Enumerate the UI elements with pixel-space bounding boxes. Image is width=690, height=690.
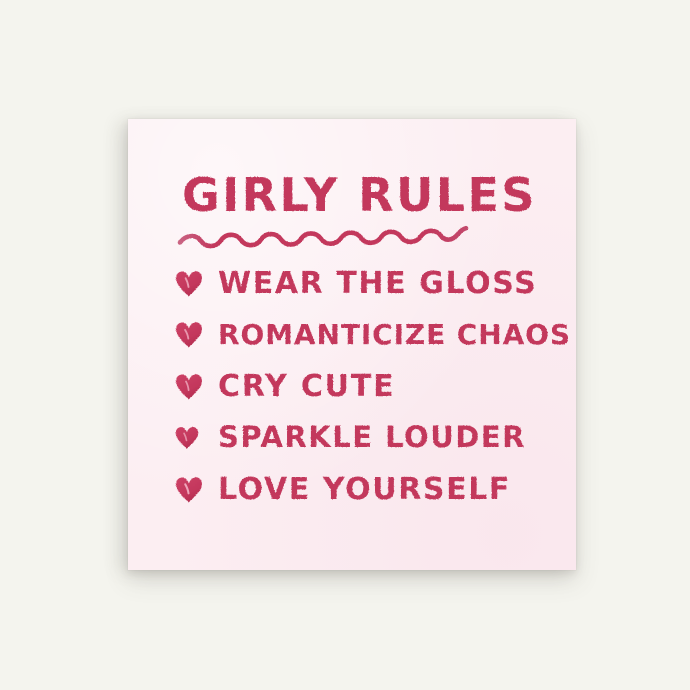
card-content: GIRLY RULES bbox=[128, 119, 576, 570]
rules-card: GIRLY RULES bbox=[128, 119, 576, 570]
list-item-label: SPARKLE LOUDER bbox=[218, 420, 526, 454]
list-item-text-area: CRY CUTE bbox=[218, 366, 570, 408]
rules-list: WEAR THE GLOSS ROMANTICIZE CHAOS bbox=[174, 258, 570, 516]
list-item-label: WEAR THE GLOSS bbox=[218, 266, 537, 301]
title-artwork: GIRLY RULES bbox=[182, 165, 522, 227]
heart-icon bbox=[174, 475, 204, 505]
heart-bullet bbox=[174, 470, 218, 510]
list-item-artwork: ROMANTICIZE CHAOS bbox=[218, 314, 570, 356]
list-item[interactable]: ROMANTICIZE CHAOS bbox=[174, 310, 570, 362]
list-item-text-area: ROMANTICIZE CHAOS bbox=[218, 314, 570, 356]
list-item[interactable]: CRY CUTE bbox=[174, 361, 570, 413]
list-item[interactable]: LOVE YOURSELF bbox=[174, 464, 570, 516]
wavy-underline-icon bbox=[178, 224, 468, 250]
title-text: GIRLY RULES bbox=[182, 168, 537, 222]
list-item-text-area: SPARKLE LOUDER bbox=[218, 417, 570, 459]
heart-bullet bbox=[174, 315, 218, 355]
list-item-artwork: SPARKLE LOUDER bbox=[218, 417, 570, 459]
list-item-artwork: LOVE YOURSELF bbox=[218, 469, 570, 511]
list-item-artwork: WEAR THE GLOSS bbox=[218, 263, 570, 305]
heart-icon bbox=[174, 372, 204, 402]
heart-bullet bbox=[174, 264, 218, 304]
list-item[interactable]: WEAR THE GLOSS bbox=[174, 258, 570, 310]
canvas: GIRLY RULES bbox=[0, 0, 690, 690]
heart-bullet bbox=[174, 418, 218, 458]
list-item-text-area: LOVE YOURSELF bbox=[218, 469, 570, 511]
list-item-label: CRY CUTE bbox=[218, 369, 395, 404]
heart-icon bbox=[174, 320, 204, 350]
list-item-label: ROMANTICIZE CHAOS bbox=[218, 318, 571, 351]
wavy-underline bbox=[178, 224, 468, 250]
list-item[interactable]: SPARKLE LOUDER bbox=[174, 413, 570, 465]
list-item-artwork: CRY CUTE bbox=[218, 366, 570, 408]
page-title: GIRLY RULES bbox=[182, 165, 522, 227]
heart-icon bbox=[174, 425, 200, 451]
list-item-label: LOVE YOURSELF bbox=[218, 472, 511, 507]
list-item-text-area: WEAR THE GLOSS bbox=[218, 263, 570, 305]
heart-icon bbox=[174, 269, 204, 299]
heart-bullet bbox=[174, 367, 218, 407]
